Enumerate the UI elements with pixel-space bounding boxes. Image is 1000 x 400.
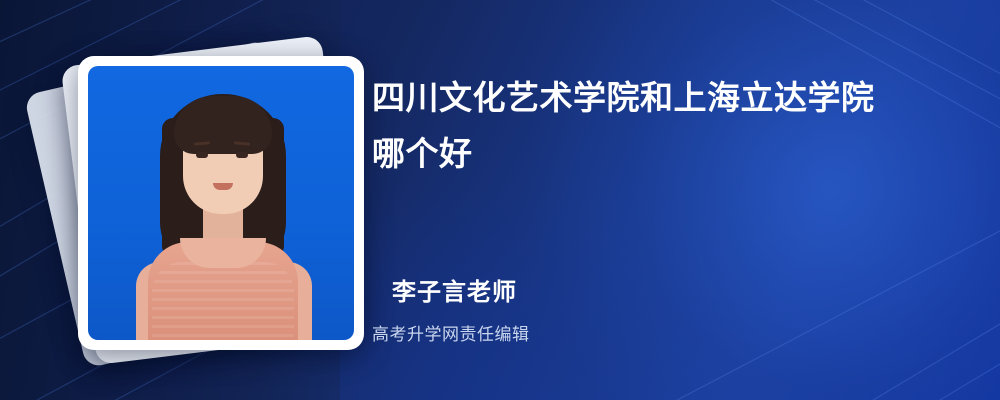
author-role: 高考升学网责任编辑: [372, 320, 530, 345]
author-portrait-photo: [88, 66, 354, 340]
headline-block: 四川文化艺术学院和上海立达学院 哪个好: [372, 70, 972, 182]
article-cover-banner: 四川文化艺术学院和上海立达学院 哪个好 李子言老师 高考升学网责任编辑: [0, 0, 1000, 400]
portrait-hair-front: [174, 96, 272, 154]
photo-card-stack: [40, 28, 370, 373]
photo-card-front: [78, 56, 364, 350]
headline-text: 四川文化艺术学院和上海立达学院 哪个好: [372, 70, 972, 182]
portrait-eye-right: [236, 152, 248, 158]
portrait-dress-texture: [152, 262, 294, 340]
portrait-eye-left: [196, 152, 208, 158]
author-name: 李子言老师: [392, 272, 517, 307]
